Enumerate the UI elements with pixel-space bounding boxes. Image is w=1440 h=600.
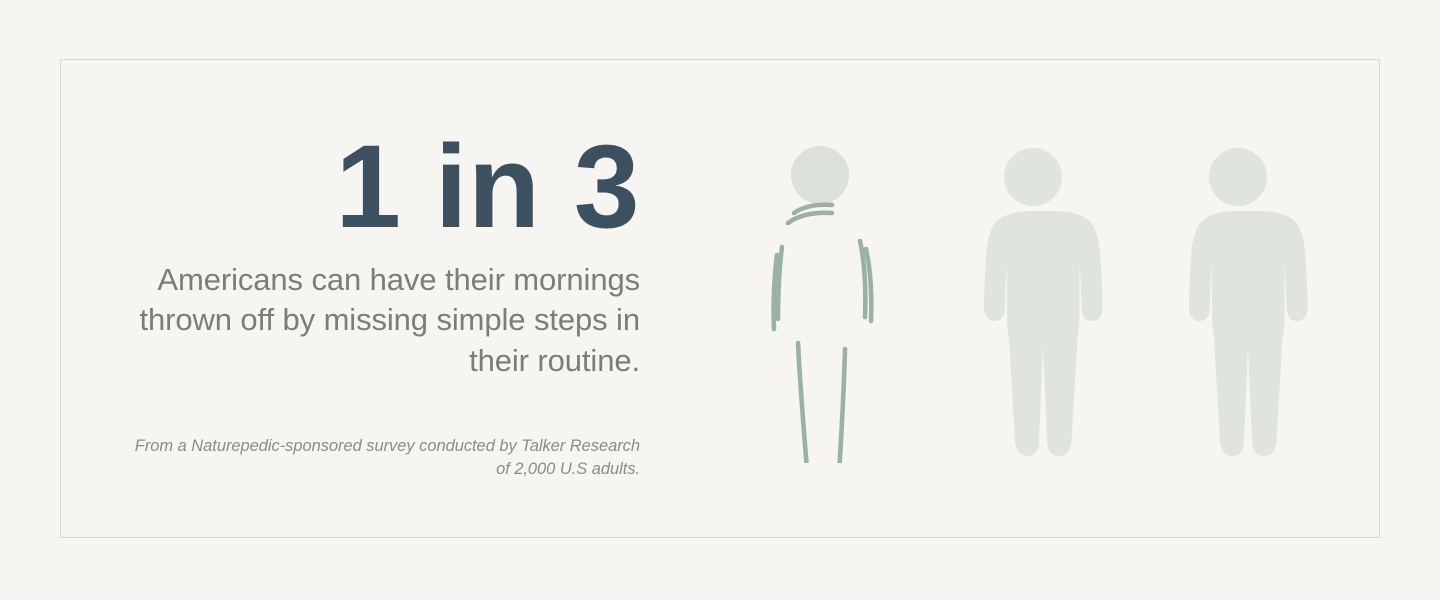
person-figure-muted-3 <box>1158 143 1328 463</box>
figure-scribble-outline <box>774 205 872 463</box>
source-attribution: From a Naturepedic-sponsored survey cond… <box>120 381 640 482</box>
pictogram-figure-row <box>748 143 1328 463</box>
text-column: 1 in 3 Americans can have their mornings… <box>120 128 640 482</box>
subheadline-description: Americans can have their mornings thrown… <box>120 260 640 381</box>
infographic-canvas: 1 in 3 Americans can have their mornings… <box>0 0 1440 600</box>
person-figure-highlighted <box>748 143 918 463</box>
figure-head-scribble <box>791 146 849 204</box>
headline-statistic: 1 in 3 <box>120 128 640 246</box>
person-figure-muted-2 <box>953 143 1123 463</box>
